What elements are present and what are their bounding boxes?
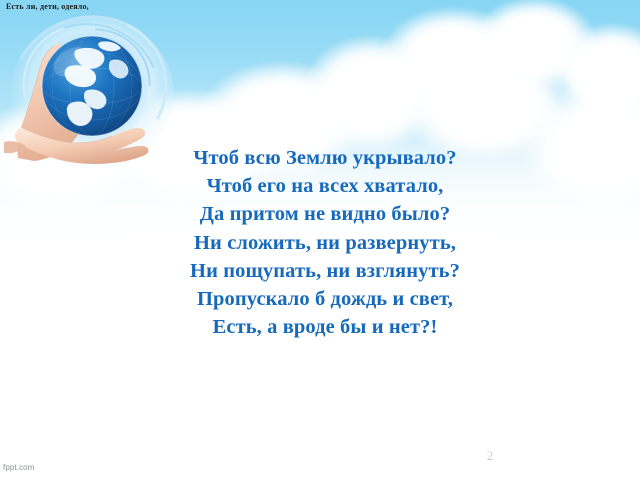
poem-line: Чтоб всю Землю укрывало? (120, 144, 530, 172)
poem-line: Есть, а вроде бы и нет?! (120, 313, 530, 341)
poem-line: Ни сложить, ни развернуть, (120, 229, 530, 257)
globe (42, 36, 142, 136)
page-number: 2 (478, 448, 502, 464)
poem-line: Чтоб его на всех хватало, (120, 172, 530, 200)
poem-line: Да притом не видно было? (120, 200, 530, 228)
page-title: Есть ли, дети, одеяло, (6, 1, 306, 12)
poem-line: Ни пощупать, ни взглянуть? (120, 257, 530, 285)
poem-body: Чтоб всю Землю укрывало? Чтоб его на все… (120, 144, 530, 341)
watermark: fppt.com (3, 463, 34, 472)
poem-line: Пропускало б дождь и свет, (120, 285, 530, 313)
presentation-slide: Есть ли, дети, одеяло, Чтоб всю Землю ук… (0, 0, 640, 480)
